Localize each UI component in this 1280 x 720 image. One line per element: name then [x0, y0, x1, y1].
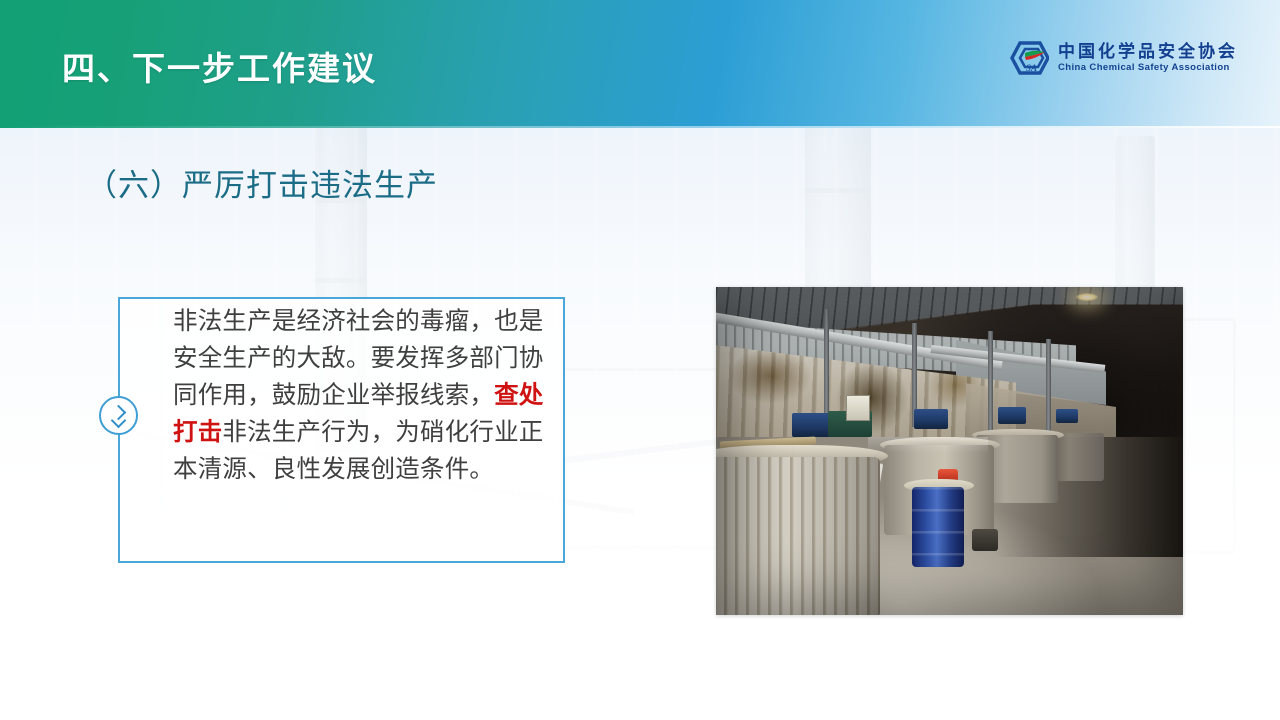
- callout-paragraph: 非法生产是经济社会的毒瘤，也是安全生产的大敌。要发挥多部门协同作用，鼓励企业举报…: [173, 303, 545, 488]
- page-title: 四、下一步工作建议: [62, 42, 377, 90]
- header-divider: [0, 126, 1280, 128]
- logo-name-chinese: 中国化学品安全协会: [1058, 43, 1238, 61]
- logo-name-english: China Chemical Safety Association: [1058, 63, 1238, 73]
- photo-vignette: [716, 287, 1183, 615]
- callout-text-after: 非法生产行为，为硝化行业正本清源、良性发展创造条件。: [173, 419, 544, 483]
- slide-canvas: 四、下一步工作建议 SA 中国化学品安全协会 China Chemical Sa…: [0, 0, 1280, 720]
- section-heading: （六）严厉打击违法生产: [86, 160, 438, 205]
- logo-wordmark: 中国化学品安全协会 China Chemical Safety Associat…: [1058, 43, 1238, 73]
- callout-text-before: 非法生产是经济社会的毒瘤，也是安全生产的大敌。要发挥多部门协同作用，鼓励企业举报…: [173, 308, 544, 409]
- chevron-right-circle-icon: [99, 396, 138, 435]
- svg-text:SA: SA: [1026, 63, 1037, 73]
- organization-logo: SA 中国化学品安全协会 China Chemical Safety Assoc…: [1009, 38, 1238, 78]
- slide-header-bar: 四、下一步工作建议 SA 中国化学品安全协会 China Chemical Sa…: [0, 0, 1280, 128]
- csa-hexagon-emblem-icon: SA: [1009, 40, 1049, 76]
- illegal-production-site-photo: [716, 287, 1183, 615]
